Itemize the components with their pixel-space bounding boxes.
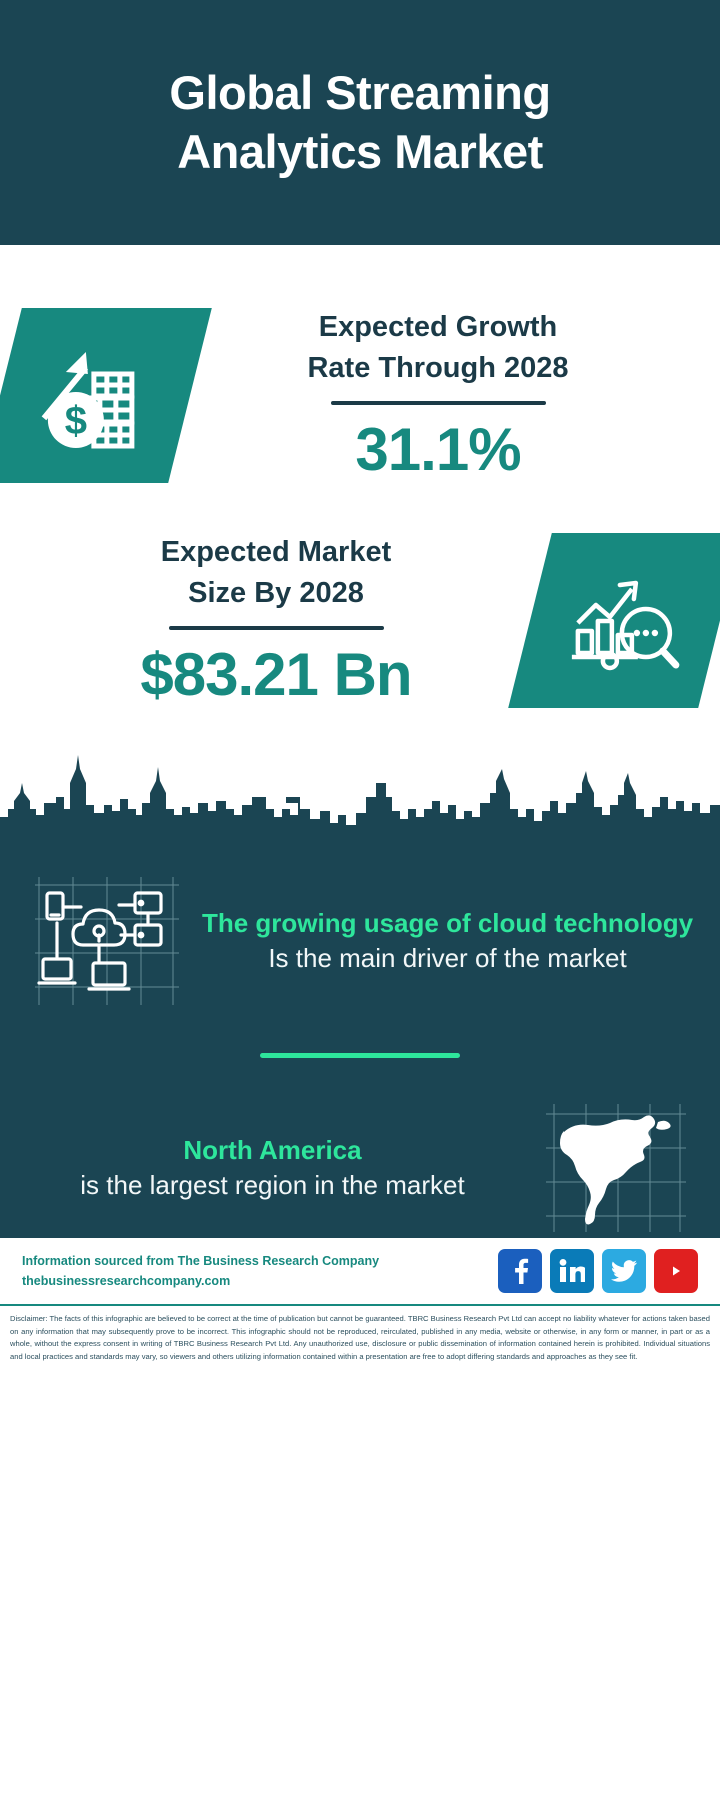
market-size-value: $83.21 Bn: [22, 640, 530, 709]
cloud-driver-subtext: Is the main driver of the market: [199, 941, 696, 976]
footer-source-text: Information sourced from The Business Re…: [22, 1251, 498, 1292]
city-skyline-graphic: [0, 753, 720, 863]
growth-money-icon-tile: $: [0, 308, 212, 483]
svg-text:$: $: [65, 399, 87, 443]
facts-divider: [260, 1053, 460, 1058]
market-size-label: Expected Market Size By 2028: [22, 532, 530, 613]
cloud-network-icon: [31, 871, 181, 1011]
page-title-line-1: Global Streaming: [169, 66, 550, 119]
market-size-label-line-2: Size By 2028: [188, 577, 364, 609]
stat-card-growth-rate: $ Expected Growth Rate Through 2028 31.1…: [0, 245, 720, 484]
growth-rate-label-line-2: Rate Through 2028: [307, 352, 568, 384]
growth-rate-text: Expected Growth Rate Through 2028 31.1%: [190, 307, 686, 484]
market-size-label-line-1: Expected Market: [161, 536, 392, 568]
market-size-text: Expected Market Size By 2028 $83.21 Bn: [22, 532, 530, 709]
stat-card-market-size: Expected Market Size By 2028 $83.21 Bn: [0, 484, 720, 709]
cloud-network-icon-wrap: [18, 871, 193, 1011]
page-title: Global Streaming Analytics Market: [169, 64, 550, 182]
footer-source-line-1: Information sourced from The Business Re…: [22, 1251, 498, 1272]
fact-card-cloud-driver: The growing usage of cloud technology Is…: [0, 871, 720, 1011]
growth-money-icon: $: [36, 340, 154, 452]
market-size-divider: [169, 626, 384, 630]
largest-region-text: North America is the largest region in t…: [18, 1134, 527, 1203]
stats-section: $ Expected Growth Rate Through 2028 31.1…: [0, 245, 720, 863]
page-title-line-2: Analytics Market: [177, 125, 543, 178]
footer-source-bar: Information sourced from The Business Re…: [0, 1238, 720, 1304]
market-analysis-icon: [566, 565, 684, 677]
north-america-map-icon: [540, 1098, 690, 1238]
facts-section: The growing usage of cloud technology Is…: [0, 863, 720, 1238]
market-analysis-icon-tile: [508, 533, 720, 708]
fact-card-largest-region: North America is the largest region in t…: [0, 1098, 720, 1238]
social-links: [498, 1249, 698, 1293]
youtube-icon[interactable]: [654, 1249, 698, 1293]
footer-source-line-2[interactable]: thebusinessresearchcompany.com: [22, 1271, 498, 1292]
facebook-icon[interactable]: [498, 1249, 542, 1293]
cloud-driver-heading: The growing usage of cloud technology: [199, 907, 696, 941]
disclaimer-text: Disclaimer: The facts of this infographi…: [0, 1304, 720, 1373]
largest-region-heading: North America: [24, 1134, 521, 1168]
twitter-icon[interactable]: [602, 1249, 646, 1293]
growth-rate-label-line-1: Expected Growth: [319, 311, 558, 343]
growth-rate-label: Expected Growth Rate Through 2028: [190, 307, 686, 388]
cloud-driver-text: The growing usage of cloud technology Is…: [193, 907, 702, 976]
header-banner: Global Streaming Analytics Market: [0, 0, 720, 245]
growth-rate-divider: [331, 401, 546, 405]
north-america-map-icon-wrap: [527, 1098, 702, 1238]
growth-rate-value: 31.1%: [190, 415, 686, 484]
skyline-icon: [0, 753, 720, 863]
largest-region-subtext: is the largest region in the market: [24, 1168, 521, 1203]
linkedin-icon[interactable]: [550, 1249, 594, 1293]
